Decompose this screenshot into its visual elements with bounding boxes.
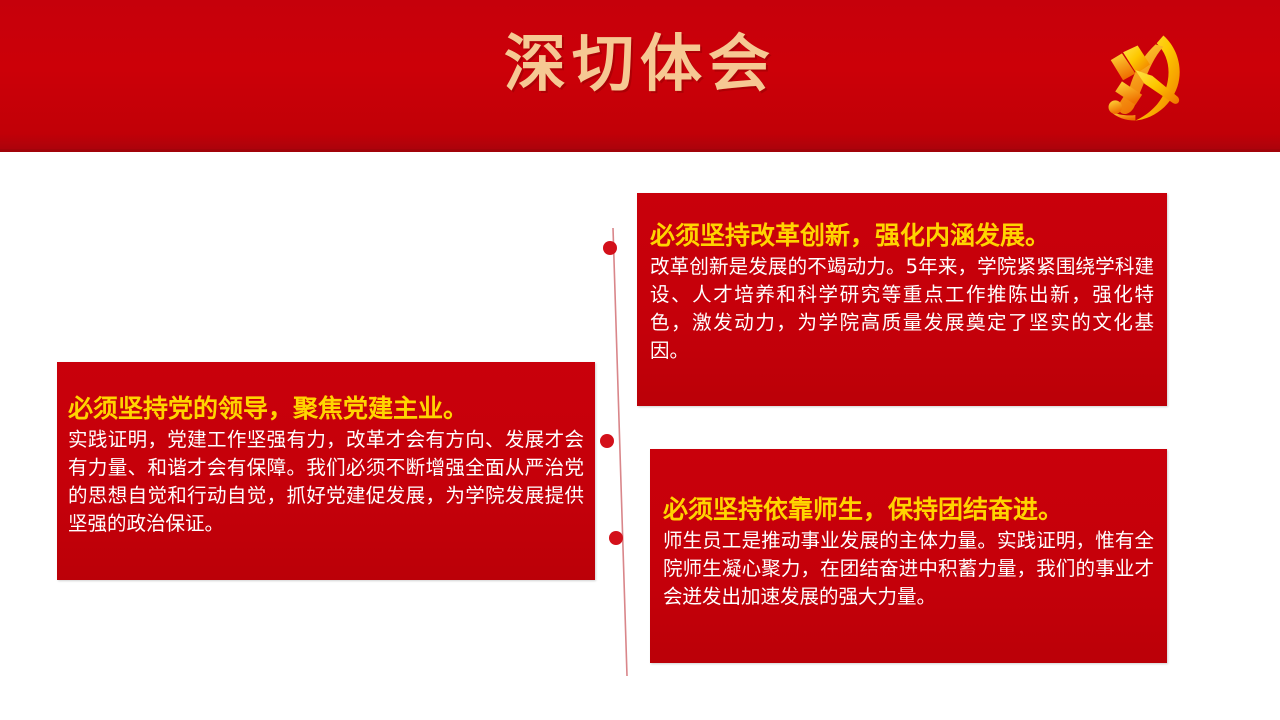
card-body: 改革创新是发展的不竭动力。5年来，学院紧紧围绕学科建设、人才培养和科学研究等重点… [650,253,1154,365]
card-heading: 必须坚持改革创新，强化内涵发展。 [650,219,1154,253]
card-body: 师生员工是推动事业发展的主体力量。实践证明，惟有全院师生凝心聚力，在团结奋进中积… [663,527,1154,611]
card-heading: 必须坚持党的领导，聚焦党建主业。 [68,392,584,426]
timeline-node-3 [609,531,623,545]
timeline-spine [596,228,632,676]
timeline-node-2 [600,434,614,448]
card-heading: 必须坚持依靠师生，保持团结奋进。 [663,493,1154,527]
header-banner: 深切体会 [0,0,1280,152]
content-card-teachers-students[interactable]: 必须坚持依靠师生，保持团结奋进。 师生员工是推动事业发展的主体力量。实践证明，惟… [650,449,1167,663]
slide-canvas: 深切体会 [0,0,1280,720]
timeline-node-1 [603,241,617,255]
card-body: 实践证明，党建工作坚强有力，改革才会有方向、发展才会有力量、和谐才会有保障。我们… [68,426,584,538]
content-card-party-leadership[interactable]: 必须坚持党的领导，聚焦党建主业。 实践证明，党建工作坚强有力，改革才会有方向、发… [57,362,595,580]
content-card-reform-innovation[interactable]: 必须坚持改革创新，强化内涵发展。 改革创新是发展的不竭动力。5年来，学院紧紧围绕… [637,193,1167,406]
hammer-sickle-icon [1085,22,1197,134]
